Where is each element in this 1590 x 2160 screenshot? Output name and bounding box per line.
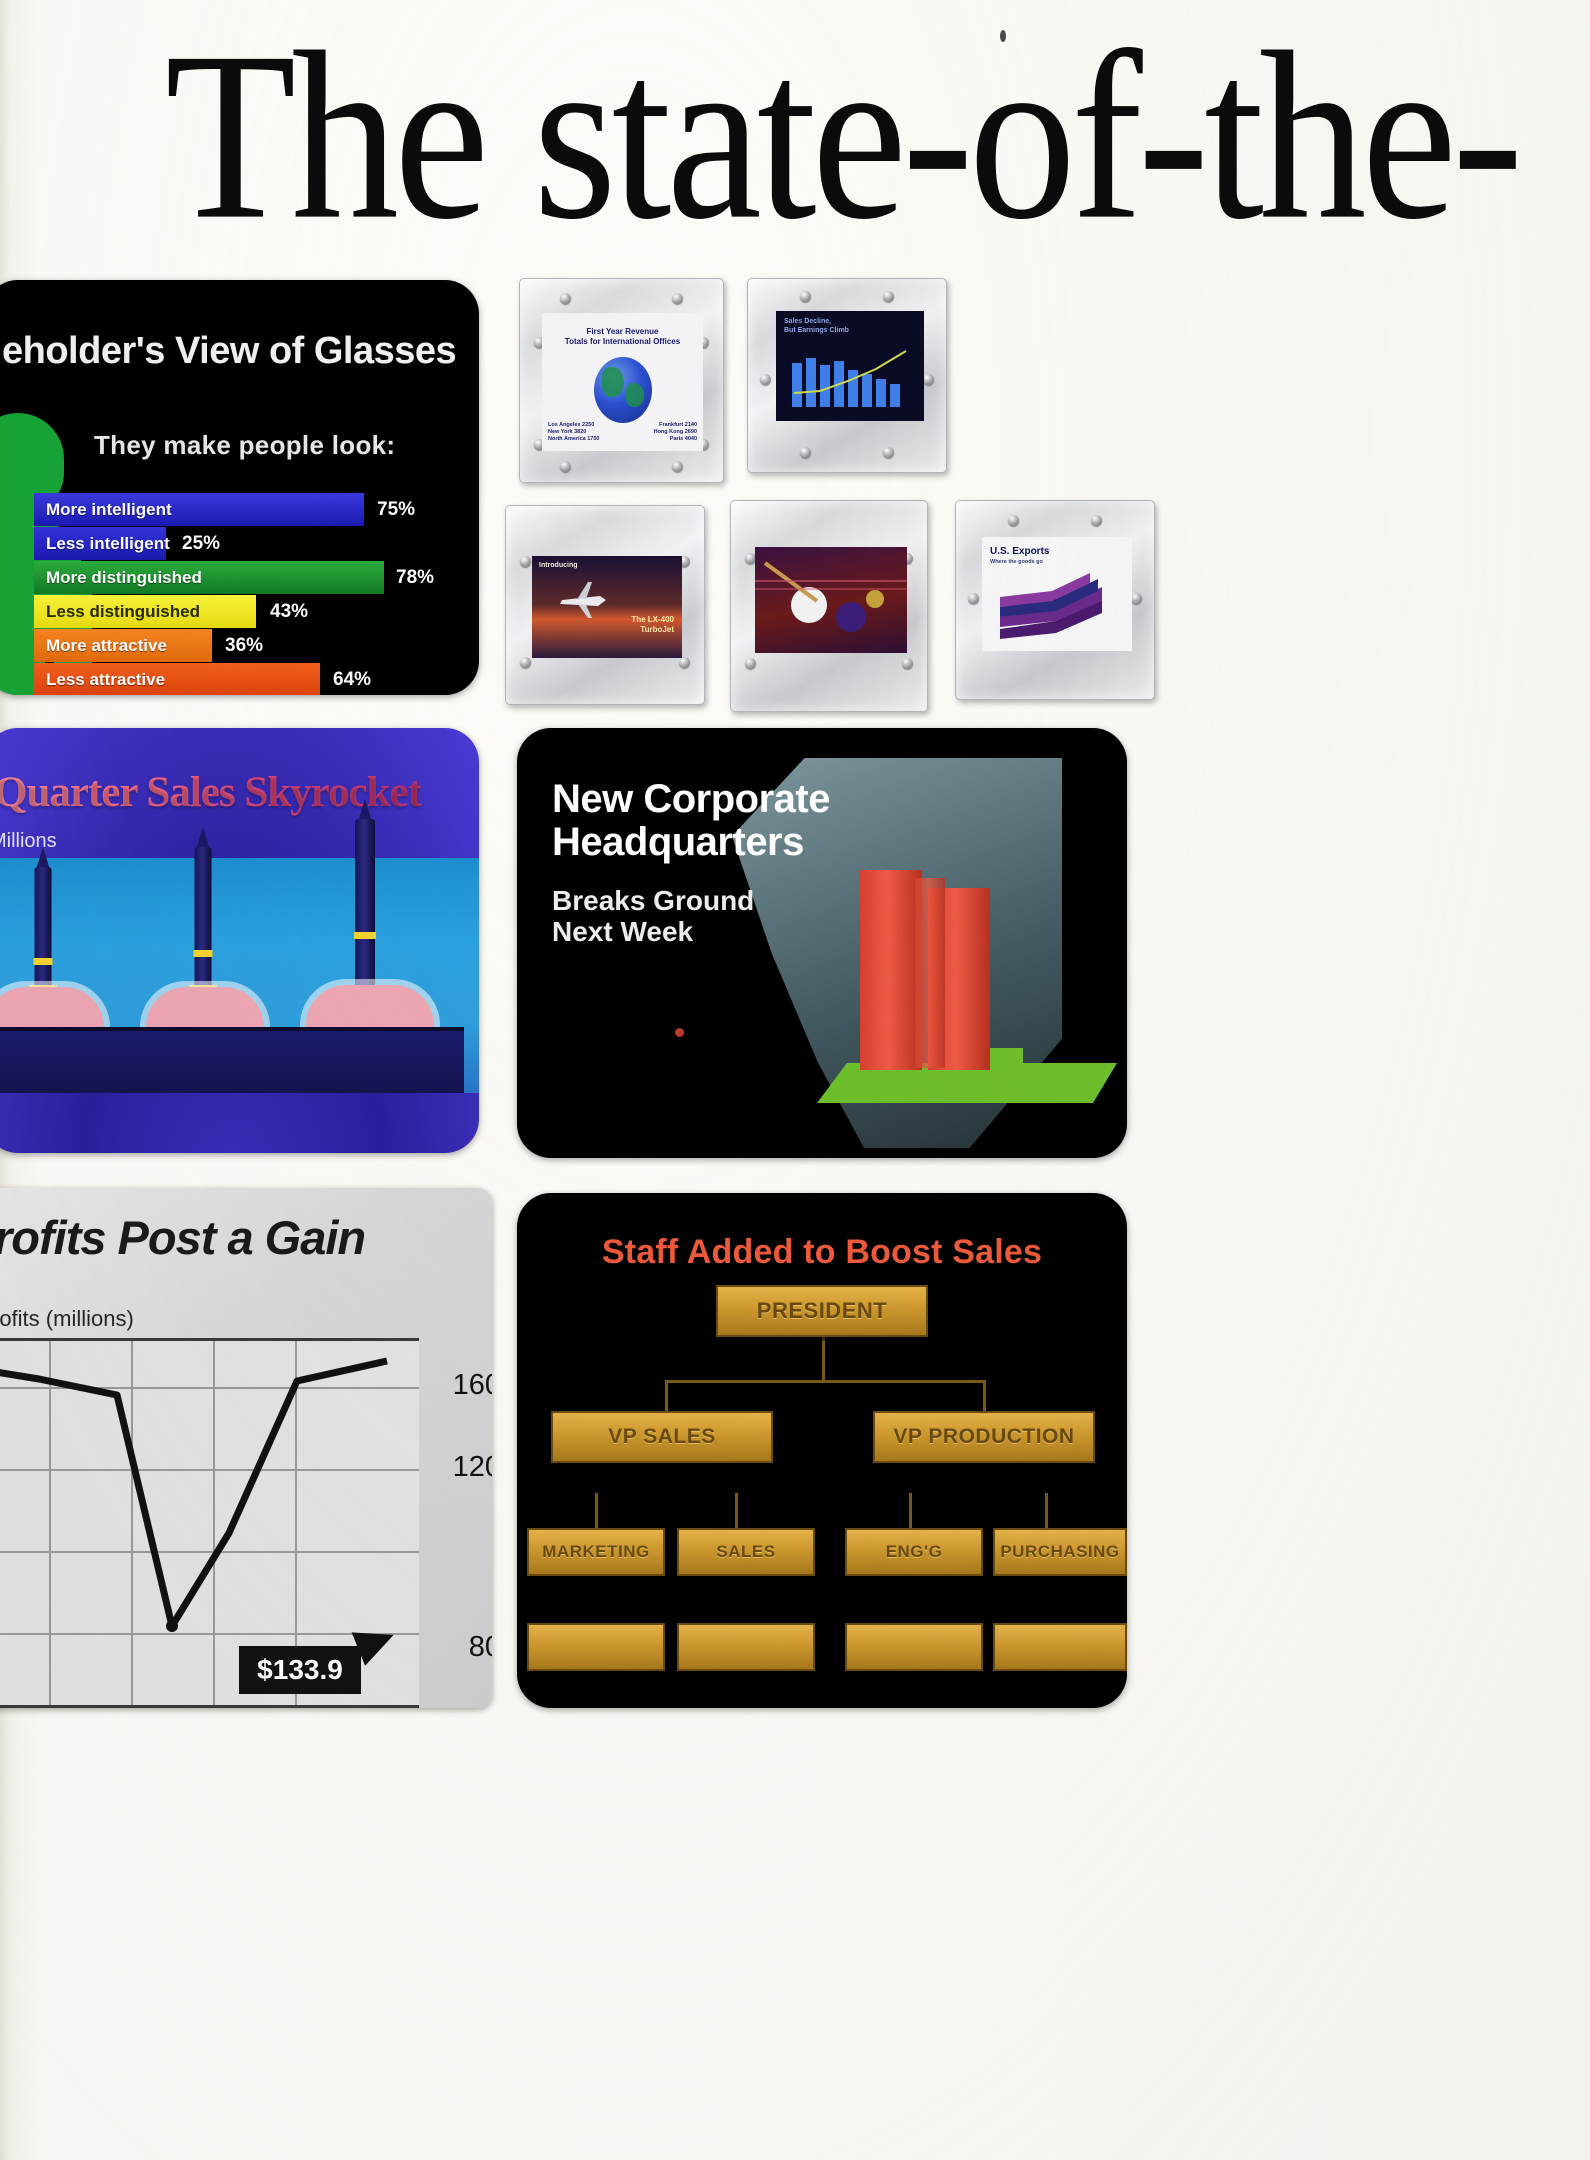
panel-title: Quarter Sales Skyrocket: [0, 768, 474, 817]
thumb-left-values: Los Angeles 2250 New York 3820 North Ame…: [548, 422, 599, 443]
jet-icon: [532, 556, 682, 658]
slide-content: [755, 547, 907, 653]
org-connector: [1045, 1493, 1048, 1529]
bar-label: More attractive: [46, 636, 167, 656]
screw-icon: [800, 291, 811, 302]
screw-icon: [968, 593, 979, 604]
slide-content: Sales Decline, But Earnings Climb: [776, 311, 924, 421]
thumb-line-1: First Year Revenue: [542, 327, 703, 337]
bar-label: More distinguished: [46, 568, 202, 588]
screw-icon: [520, 556, 531, 567]
scan-speck: [1000, 30, 1006, 42]
org-connector: [735, 1493, 738, 1529]
bar-row: More attractive 36%: [34, 629, 474, 662]
screw-icon: [745, 658, 756, 669]
slide-quarter-sales-skyrocket: Quarter Sales Skyrocket Millions: [0, 728, 479, 1153]
panel-subtitle: They make people look:: [94, 430, 395, 461]
panel-subtitle: Breaks Ground Next Week: [552, 885, 754, 948]
tower-back: [915, 878, 945, 1068]
location-marker: [675, 1028, 684, 1037]
org-node-vp-sales[interactable]: VP SALES: [551, 1411, 773, 1463]
tower-left: [860, 870, 922, 1070]
screw-icon: [1008, 515, 1019, 526]
page-headline: The state-of-the-: [0, 40, 1590, 255]
axis-label: rofits (millions): [0, 1306, 134, 1332]
bar-label: Less distinguished: [46, 602, 200, 622]
y-axis-tick: 120: [453, 1451, 492, 1484]
screw-icon: [560, 461, 571, 472]
org-connector: [595, 1493, 598, 1529]
exports-area-chart: [982, 537, 1132, 651]
bar-chart: More intelligent 75% Less intelligent 25…: [34, 493, 474, 695]
magazine-page: The state-of-the- eholder's View of Glas…: [0, 0, 1590, 2160]
value-callout: $133.9: [239, 1646, 361, 1694]
y-axis-tick: 80: [469, 1631, 492, 1664]
screw-icon: [800, 447, 811, 458]
thumb-right-values: Frankfurt 2140 Hong Kong 2690 Paris 4040: [654, 422, 697, 443]
bar-label: Less intelligent: [46, 534, 170, 554]
bar-row: Less attractive 64%: [34, 663, 474, 695]
screw-icon: [883, 291, 894, 302]
thumb-line-2: Totals for International Offices: [542, 337, 703, 347]
thumbnail-billiards[interactable]: [730, 500, 928, 712]
org-node-marketing[interactable]: MARKETING: [527, 1528, 665, 1576]
org-connector: [665, 1380, 985, 1383]
bar-value: 78%: [396, 567, 434, 589]
rocket-scene: [0, 858, 479, 1093]
bar-row: More distinguished 78%: [34, 561, 474, 594]
bar-value: 64%: [333, 669, 371, 691]
slide-profits-post-a-gain: rofits Post a Gain rofits (millions) 160…: [0, 1188, 492, 1708]
rocket-ring: [354, 932, 376, 939]
thumbnail-sales-decline[interactable]: Sales Decline, But Earnings Climb: [747, 278, 947, 473]
org-node-row4[interactable]: [845, 1623, 983, 1671]
headline-text: The state-of-the-: [165, 40, 1519, 255]
org-node-president[interactable]: PRESIDENT: [716, 1285, 928, 1337]
screw-icon: [560, 293, 571, 304]
bar-value: 75%: [377, 499, 415, 521]
slide-staff-added-to-boost-sales: Staff Added to Boost Sales PRESIDENT VP …: [517, 1193, 1127, 1708]
lawn-patch: [987, 1048, 1023, 1074]
org-node-row4[interactable]: [993, 1623, 1127, 1671]
org-node-vp-production[interactable]: VP PRODUCTION: [873, 1411, 1095, 1463]
org-node-row4[interactable]: [527, 1623, 665, 1671]
mini-bar-chart: [790, 347, 912, 407]
rocket-ring: [34, 958, 53, 965]
screw-icon: [923, 374, 934, 385]
thumb-line-2: But Earnings Climb: [784, 327, 924, 336]
panel-subtitle-line-1: Breaks Ground: [552, 885, 754, 916]
org-connector: [983, 1380, 986, 1412]
org-connector: [822, 1336, 825, 1380]
panel-title: rofits Post a Gain: [0, 1210, 365, 1265]
screw-icon: [672, 293, 683, 304]
slide-content: First Year Revenue Totals for Internatio…: [542, 313, 703, 451]
screw-icon: [883, 447, 894, 458]
bar-row: More intelligent 75%: [34, 493, 474, 526]
org-node-sales[interactable]: SALES: [677, 1528, 815, 1576]
slide-beholders-view-of-glasses: eholder's View of Glasses They make peop…: [0, 280, 479, 695]
bar-value: 43%: [270, 601, 308, 623]
bar-value: 25%: [182, 533, 220, 555]
screw-icon: [1091, 515, 1102, 526]
panel-subtitle-line-2: Next Week: [552, 916, 693, 947]
globe-landmass: [602, 367, 624, 397]
screw-icon: [672, 461, 683, 472]
panel-title-line-1: New Corporate: [552, 777, 830, 821]
org-node-engineering[interactable]: ENG'G: [845, 1528, 983, 1576]
ground-plane: [0, 1027, 464, 1093]
bar-value: 36%: [225, 635, 263, 657]
panel-title: eholder's View of Glasses: [2, 330, 456, 373]
mini-trend-line: [790, 347, 912, 407]
screw-icon: [679, 657, 690, 668]
bar-label: Less attractive: [46, 670, 165, 690]
thumbnail-first-year-revenue[interactable]: First Year Revenue Totals for Internatio…: [519, 278, 724, 483]
slide-content: U.S. Exports Where the goods go: [982, 537, 1132, 651]
screw-icon: [902, 658, 913, 669]
thumbnail-turbojet[interactable]: Introducing The LX-400 TurboJet: [505, 505, 705, 705]
slide-content: Introducing The LX-400 TurboJet: [532, 556, 682, 658]
thumb-line-1: Sales Decline,: [784, 318, 924, 327]
billiard-scene: [755, 547, 907, 653]
bar-row: Less intelligent 25%: [34, 527, 474, 560]
panel-title-line-2: Headquarters: [552, 820, 804, 864]
thumbnail-us-exports[interactable]: U.S. Exports Where the goods go: [955, 500, 1155, 700]
org-node-row4[interactable]: [677, 1623, 815, 1671]
screw-icon: [1131, 593, 1142, 604]
slide-new-corporate-headquarters: New Corporate Headquarters Breaks Ground…: [517, 728, 1127, 1158]
screw-icon: [520, 657, 531, 668]
globe-icon: [594, 357, 652, 423]
org-connector: [665, 1380, 668, 1412]
bar-label: More intelligent: [46, 500, 172, 520]
panel-title: Staff Added to Boost Sales: [517, 1233, 1127, 1272]
globe-landmass: [626, 383, 644, 407]
org-node-purchasing[interactable]: PURCHASING: [993, 1528, 1127, 1576]
line-chart-plot: 160 120 80 $133.9: [0, 1338, 419, 1708]
bar-row: Less distinguished 43%: [34, 595, 474, 628]
panel-title: New Corporate Headquarters: [552, 778, 830, 864]
org-connector: [909, 1493, 912, 1529]
rocket-ring: [194, 950, 213, 957]
screw-icon: [760, 374, 771, 385]
y-axis-tick: 160: [453, 1369, 492, 1402]
